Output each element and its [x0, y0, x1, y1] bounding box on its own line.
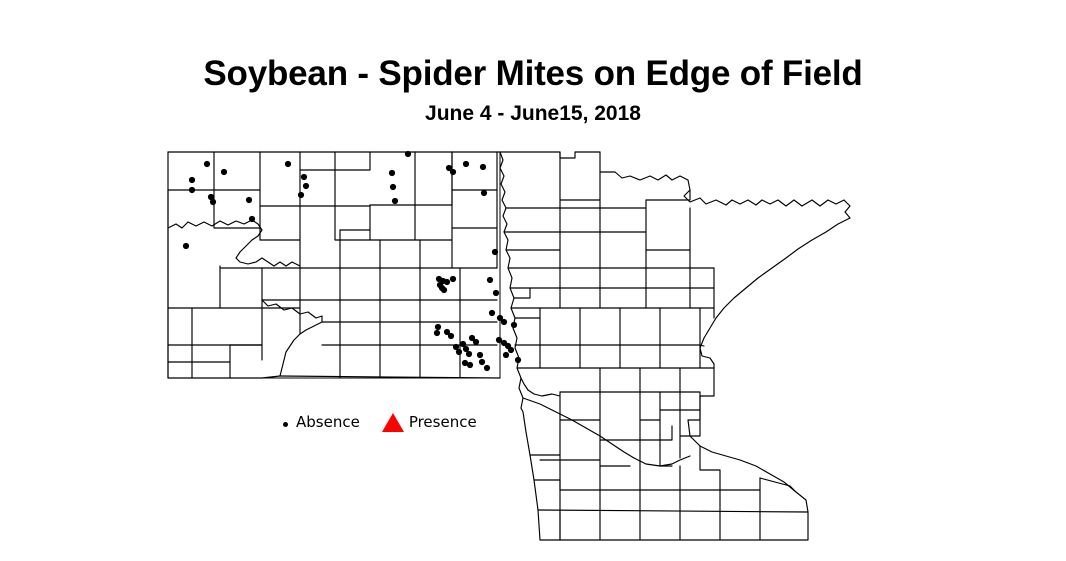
dot-marker-icon	[466, 351, 472, 357]
dot-marker-icon	[434, 330, 440, 336]
dot-marker-icon	[484, 365, 490, 371]
dot-marker-icon	[246, 197, 252, 203]
dot-marker-icon	[487, 277, 493, 283]
dot-marker-icon	[298, 192, 304, 198]
dot-marker-icon	[444, 279, 450, 285]
minnesota-counties	[500, 152, 850, 540]
dot-marker-icon	[456, 349, 462, 355]
dot-marker-icon	[405, 151, 411, 157]
dot-marker-icon	[479, 359, 485, 365]
dot-marker-icon	[303, 183, 309, 189]
dot-marker-icon	[390, 184, 396, 190]
dot-marker-icon	[450, 169, 456, 175]
dot-marker-icon	[467, 362, 473, 368]
triangle-marker-icon	[382, 413, 404, 432]
spider-mite-survey-map-page: Soybean - Spider Mites on Edge of Field …	[0, 0, 1066, 561]
dot-marker-icon	[283, 422, 288, 427]
state-county-map	[0, 0, 1066, 561]
legend-entry-absence: Absence	[283, 413, 360, 431]
dot-marker-icon	[448, 333, 454, 339]
dot-marker-icon	[481, 190, 487, 196]
legend-entry-presence: Presence	[382, 413, 477, 432]
dot-marker-icon	[503, 352, 509, 358]
dot-marker-icon	[489, 310, 495, 316]
dot-marker-icon	[441, 287, 447, 293]
dot-marker-icon	[210, 199, 216, 205]
dot-marker-icon	[204, 161, 210, 167]
legend-label-presence: Presence	[409, 413, 477, 431]
dot-marker-icon	[183, 243, 189, 249]
north-dakota-counties	[168, 152, 500, 378]
dot-marker-icon	[435, 324, 441, 330]
dot-marker-icon	[493, 290, 499, 296]
dot-marker-icon	[511, 322, 517, 328]
dot-marker-icon	[450, 276, 456, 282]
dot-marker-icon	[515, 357, 521, 363]
dot-marker-icon	[189, 177, 195, 183]
dot-marker-icon	[389, 170, 395, 176]
dot-marker-icon	[492, 249, 498, 255]
dot-marker-icon	[301, 174, 307, 180]
dot-marker-icon	[473, 339, 479, 345]
map-container	[0, 0, 1066, 561]
dot-marker-icon	[285, 161, 291, 167]
legend-label-absence: Absence	[296, 413, 360, 431]
map-legend: Absence Presence	[283, 409, 477, 435]
dot-marker-icon	[392, 198, 398, 204]
dot-marker-icon	[221, 169, 227, 175]
dot-marker-icon	[508, 347, 514, 353]
dot-marker-icon	[480, 164, 486, 170]
dot-marker-icon	[501, 319, 507, 325]
dot-marker-icon	[189, 187, 195, 193]
dot-marker-icon	[463, 161, 469, 167]
dot-marker-icon	[477, 352, 483, 358]
dot-marker-icon	[249, 216, 255, 222]
